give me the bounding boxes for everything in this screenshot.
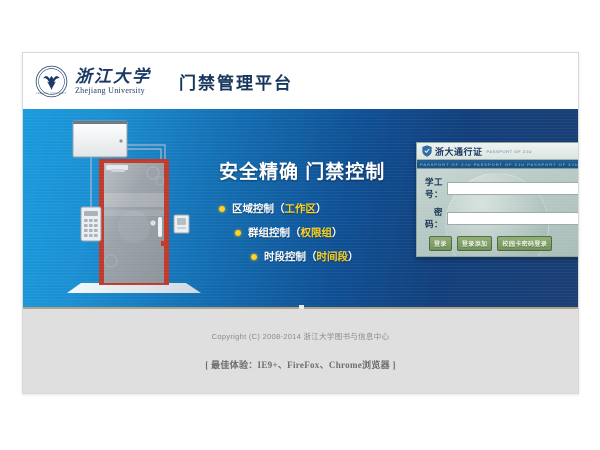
bullet-dot-icon <box>219 206 225 212</box>
banner-divider <box>23 307 578 309</box>
banner-headline: 安全精确 门禁控制 <box>219 157 434 184</box>
feature-suffix: ） <box>348 251 359 263</box>
userid-input[interactable] <box>447 182 578 195</box>
banner-feature-list: 区域控制（工作区） 群组控制（权限组） 时段控制（时间段） <box>219 201 434 264</box>
page-card: ZHEJIANG UNIVERSITY 浙江大学 Zhejiang Univer… <box>22 52 579 394</box>
login-add-button[interactable]: 登录添加 <box>457 236 493 251</box>
panel-title-en: PASSPORT OF ZJU <box>487 149 532 154</box>
campus-card-login-button[interactable]: 校园卡密码登录 <box>497 236 552 251</box>
page-title: 门禁管理平台 <box>179 69 293 94</box>
feature-suffix: ） <box>332 227 343 239</box>
access-control-door-illustration <box>61 115 211 305</box>
login-button-group: 登录 登录添加 校园卡密码登录 <box>425 236 575 251</box>
password-input[interactable] <box>447 212 578 225</box>
site-footer: Copyright (C) 2008-2014 浙江大学图书与信息中心 [ 最佳… <box>23 309 578 393</box>
login-button[interactable]: 登录 <box>429 236 452 251</box>
feature-label: 区域控制（ <box>232 203 285 215</box>
feature-highlight: 权限组 <box>301 227 333 239</box>
zju-seal-icon: ZHEJIANG UNIVERSITY <box>35 65 68 98</box>
feature-item-group: 群组控制（权限组） <box>219 225 434 240</box>
logo-text-cn: 浙江大学 <box>75 68 151 85</box>
copyright-text: Copyright (C) 2008-2014 浙江大学图书与信息中心 <box>212 331 390 342</box>
shield-icon <box>422 145 432 157</box>
login-panel-header: 浙大通行证 PASSPORT OF ZJU <box>417 143 578 160</box>
field-row-password: 密 码： <box>425 206 575 230</box>
feature-item-timeslot: 时段控制（时间段） <box>219 249 434 264</box>
bullet-dot-icon <box>251 254 257 260</box>
feature-item-area: 区域控制（工作区） <box>219 201 434 216</box>
feature-label: 群组控制（ <box>248 227 301 239</box>
feature-label: 时段控制（ <box>264 251 317 263</box>
field-row-userid: 学工号： <box>425 176 575 200</box>
feature-highlight: 时间段 <box>317 251 349 263</box>
browser-support-note: [ 最佳体验：IE9+、FireFox、Chrome浏览器 ] <box>205 358 396 371</box>
university-logo[interactable]: ZHEJIANG UNIVERSITY 浙江大学 Zhejiang Univer… <box>35 65 151 98</box>
banner-text-block: 安全精确 门禁控制 区域控制（工作区） 群组控制（权限组） 时段控制（时间段） <box>219 157 434 273</box>
panel-stripe-banner: PASSPORT OF ZJU PASSPORT OF ZJU PASSPORT… <box>417 160 578 169</box>
password-label: 密 码： <box>425 206 447 230</box>
logo-text-en: Zhejiang University <box>75 87 151 95</box>
login-panel[interactable]: 浙大通行证 PASSPORT OF ZJU PASSPORT OF ZJU PA… <box>416 142 578 257</box>
bullet-dot-icon <box>235 230 241 236</box>
login-form: 学工号： 密 码： 登录 登录添加 校园卡密码登录 <box>417 169 578 251</box>
userid-label: 学工号： <box>425 176 447 200</box>
site-header: ZHEJIANG UNIVERSITY 浙江大学 Zhejiang Univer… <box>23 53 578 109</box>
hero-banner: 安全精确 门禁控制 区域控制（工作区） 群组控制（权限组） 时段控制（时间段） <box>23 109 578 309</box>
panel-title-cn: 浙大通行证 <box>435 145 483 158</box>
feature-suffix: ） <box>316 203 327 215</box>
feature-highlight: 工作区 <box>285 203 317 215</box>
